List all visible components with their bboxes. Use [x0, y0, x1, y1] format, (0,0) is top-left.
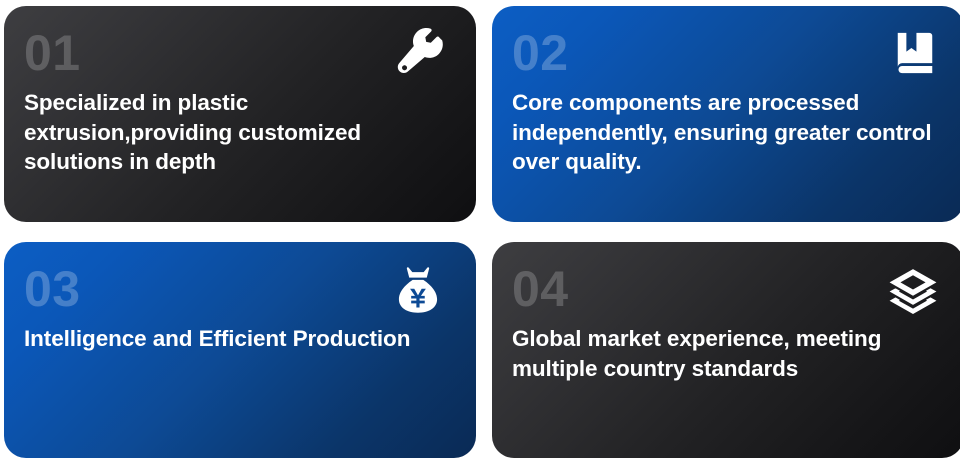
feature-card-03[interactable]: 03 Intelligence and Efficient Production — [4, 242, 476, 458]
feature-card-04[interactable]: 04 Global market experience, meeting mul… — [492, 242, 960, 458]
feature-card-01[interactable]: 01 Specialized in plastic extrusion,prov… — [4, 6, 476, 222]
card-number-03: 03 — [24, 264, 448, 314]
card-text-04: Global market experience, meeting multip… — [512, 324, 936, 383]
feature-card-grid: 01 Specialized in plastic extrusion,prov… — [0, 0, 960, 459]
card-text-03: Intelligence and Efficient Production — [24, 324, 448, 354]
card-number-02: 02 — [512, 28, 936, 78]
card-text-02: Core components are processed independen… — [512, 88, 936, 177]
feature-card-02[interactable]: 02 Core components are processed indepen… — [492, 6, 960, 222]
card-number-04: 04 — [512, 264, 936, 314]
card-number-01: 01 — [24, 28, 448, 78]
card-text-01: Specialized in plastic extrusion,providi… — [24, 88, 448, 177]
